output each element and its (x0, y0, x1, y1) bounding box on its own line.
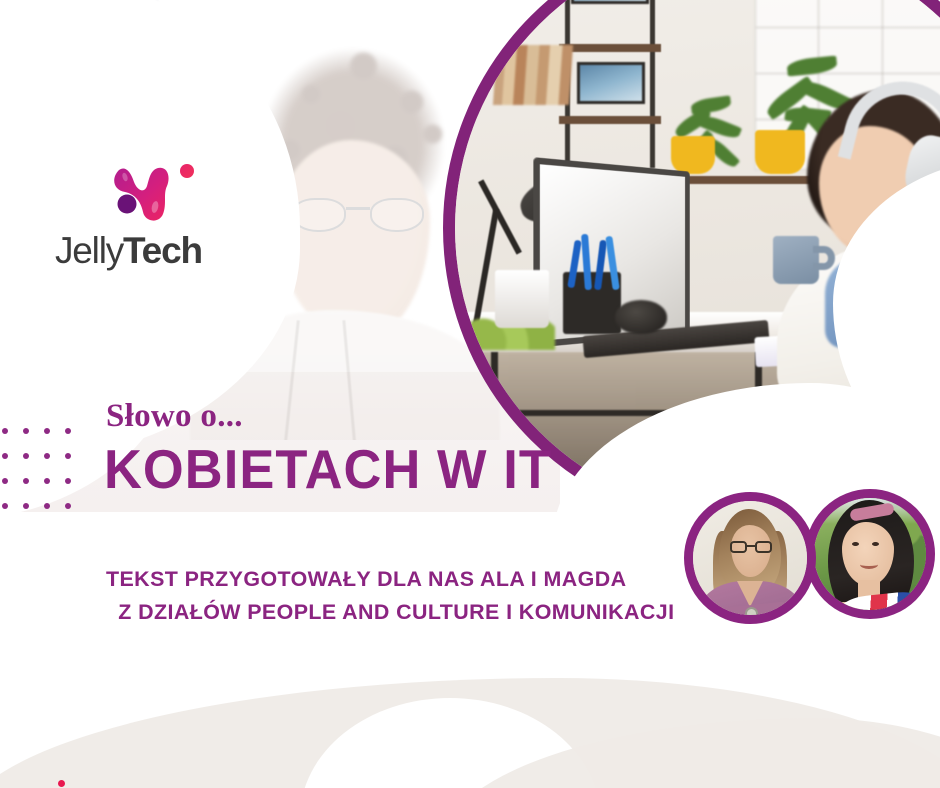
logo-word-tech: Tech (123, 230, 202, 271)
jellytech-logo[interactable]: JellyTech (55, 160, 255, 272)
pink-accent-dot (58, 780, 65, 787)
byline: Tekst przygotowały dla nas Ala i Magda z… (106, 564, 674, 629)
jelly-molecule-icon (103, 160, 203, 226)
portrait-glasses-icon (292, 198, 424, 232)
logo-word-jelly: Jelly (55, 230, 123, 271)
page-title: Kobietach w IT (104, 443, 552, 498)
glasses-icon (730, 541, 772, 553)
avatar-magda[interactable] (805, 489, 935, 619)
byline-line-2: z działów People and Culture i Komunikac… (106, 597, 674, 630)
byline-line-1: Tekst przygotowały dla nas Ala i Magda (106, 568, 626, 591)
kicker-text: Słowo o... (106, 398, 243, 435)
avatar-ala[interactable] (684, 492, 816, 624)
poster-canvas: JellyTech Słowo o... Kobietach w IT Teks… (0, 0, 940, 788)
logo-wordmark: JellyTech (55, 230, 255, 272)
decorative-dot-grid (2, 428, 86, 528)
